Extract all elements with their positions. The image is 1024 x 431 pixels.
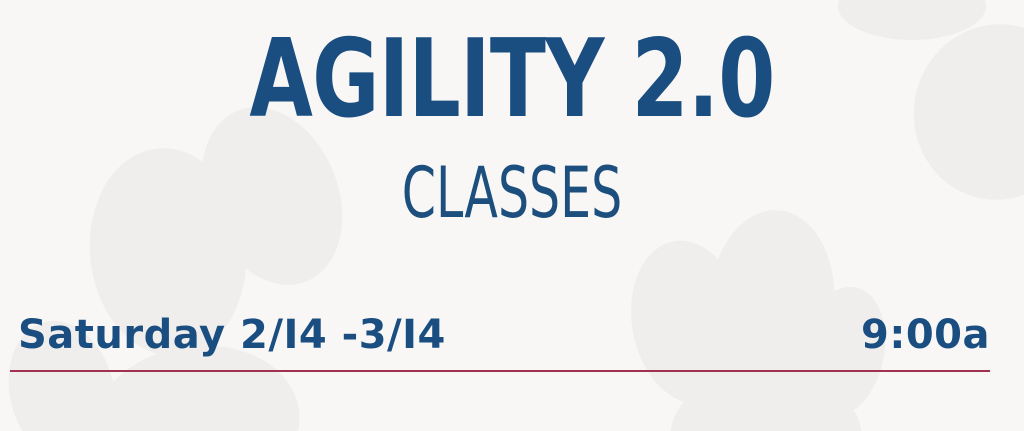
schedule-row: Saturday 2/I4 -3/I4 9:00a xyxy=(18,308,990,362)
bottom-paw-toe-mid xyxy=(704,206,840,394)
bottom-paw-main-pad xyxy=(670,368,862,431)
page-title: AGILITY 2.0 xyxy=(123,26,901,134)
page-subtitle: CLASSES xyxy=(154,158,871,228)
schedule-time: 9:00a xyxy=(861,312,990,358)
agility-class-flyer: AGILITY 2.0 CLASSES Saturday 2/I4 -3/I4 … xyxy=(0,0,1024,431)
divider-rule xyxy=(10,370,990,372)
right-edge-toe-pad xyxy=(895,6,1024,217)
schedule-date: Saturday 2/I4 -3/I4 xyxy=(18,312,446,358)
